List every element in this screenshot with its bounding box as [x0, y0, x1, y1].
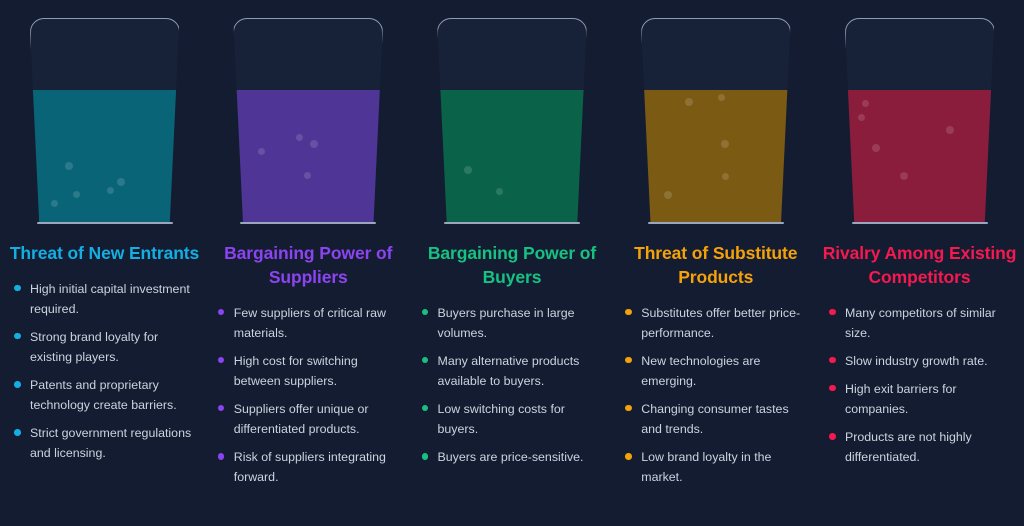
bubble-icon — [721, 140, 729, 148]
bubble-icon — [73, 191, 80, 198]
bubble-icon — [310, 140, 318, 148]
force-title-bargaining-power-of-suppliers: Bargaining Power of Suppliers — [210, 242, 407, 290]
liquid-fill — [234, 90, 382, 222]
bubble-icon — [65, 162, 73, 170]
force-title-threat-of-new-entrants: Threat of New Entrants — [6, 242, 203, 266]
list-item-label: Low switching costs for buyers. — [438, 402, 565, 436]
bubble-icon — [304, 172, 311, 179]
list-item: Many alternative products available to b… — [420, 351, 607, 391]
list-item-label: High cost for switching between supplier… — [234, 354, 358, 388]
list-item: Products are not highly differentiated. — [827, 427, 1014, 467]
list-item-label: High exit barriers for companies. — [845, 382, 957, 416]
list-item-label: Few suppliers of critical raw materials. — [234, 306, 386, 340]
glass-container — [30, 18, 180, 223]
glass-base-line — [240, 222, 376, 224]
force-points-bargaining-power-of-buyers: Buyers purchase in large volumes.Many al… — [414, 303, 611, 476]
list-item: Low switching costs for buyers. — [420, 399, 607, 439]
bullet-dot-icon — [625, 453, 632, 460]
list-item-label: Patents and proprietary technology creat… — [30, 378, 177, 412]
bubble-icon — [496, 188, 503, 195]
bubble-icon — [718, 94, 725, 101]
force-column-threat-of-substitute-products: Threat of Substitute ProductsSubstitutes… — [617, 0, 814, 526]
list-item: Changing consumer tastes and trends. — [623, 399, 810, 439]
bubble-icon — [464, 166, 472, 174]
force-points-threat-of-substitute-products: Substitutes offer better price-performan… — [617, 303, 814, 496]
list-item-label: Slow industry growth rate. — [845, 354, 988, 368]
glass-base-line — [852, 222, 988, 224]
list-item: High exit barriers for companies. — [827, 379, 1014, 419]
list-item: Buyers are price-sensitive. — [420, 447, 607, 467]
list-item-label: Risk of suppliers integrating forward. — [234, 450, 386, 484]
bullet-dot-icon — [625, 357, 632, 364]
list-item: Strong brand loyalty for existing player… — [12, 327, 199, 367]
list-item: Suppliers offer unique or differentiated… — [216, 399, 403, 439]
list-item-label: Low brand loyalty in the market. — [641, 450, 771, 484]
force-column-bargaining-power-of-buyers: Bargaining Power of BuyersBuyers purchas… — [414, 0, 611, 526]
bullet-dot-icon — [829, 309, 836, 316]
glass-base-line — [37, 222, 173, 224]
bullet-dot-icon — [625, 405, 632, 412]
list-item-label: Strong brand loyalty for existing player… — [30, 330, 158, 364]
force-column-bargaining-power-of-suppliers: Bargaining Power of SuppliersFew supplie… — [210, 0, 407, 526]
force-title-rivalry-among-existing-competitors: Rivalry Among Existing Competitors — [821, 242, 1018, 290]
list-item: Many competitors of similar size. — [827, 303, 1014, 343]
list-item: New technologies are emerging. — [623, 351, 810, 391]
list-item: Strict government regulations and licens… — [12, 423, 199, 463]
bubble-icon — [117, 178, 125, 186]
glass-container — [845, 18, 995, 223]
list-item-label: Suppliers offer unique or differentiated… — [234, 402, 369, 436]
list-item: High initial capital investment required… — [12, 279, 199, 319]
list-item: Substitutes offer better price-performan… — [623, 303, 810, 343]
bullet-dot-icon — [422, 309, 429, 316]
bubble-icon — [664, 191, 672, 199]
force-points-rivalry-among-existing-competitors: Many competitors of similar size.Slow in… — [821, 303, 1018, 476]
bubble-icon — [685, 98, 693, 106]
force-gauge-threat-of-new-entrants — [30, 18, 180, 223]
bubble-icon — [51, 200, 58, 207]
liquid-fill — [438, 90, 586, 222]
list-item-label: Buyers are price-sensitive. — [438, 450, 584, 464]
force-title-threat-of-substitute-products: Threat of Substitute Products — [617, 242, 814, 290]
list-item-label: Many competitors of similar size. — [845, 306, 996, 340]
bubble-icon — [946, 126, 954, 134]
bullet-dot-icon — [14, 333, 21, 340]
bullet-dot-icon — [829, 385, 836, 392]
list-item: Patents and proprietary technology creat… — [12, 375, 199, 415]
list-item: Slow industry growth rate. — [827, 351, 1014, 371]
glass-base-line — [444, 222, 580, 224]
bullet-dot-icon — [422, 357, 429, 364]
bullet-dot-icon — [14, 429, 21, 436]
glass-container — [641, 18, 791, 223]
glass-base-line — [648, 222, 784, 224]
force-gauge-threat-of-substitute-products — [641, 18, 791, 223]
bullet-dot-icon — [218, 357, 225, 364]
force-points-bargaining-power-of-suppliers: Few suppliers of critical raw materials.… — [210, 303, 407, 496]
force-title-bargaining-power-of-buyers: Bargaining Power of Buyers — [414, 242, 611, 290]
bubble-icon — [107, 187, 114, 194]
bubble-icon — [900, 172, 908, 180]
bubble-icon — [862, 100, 869, 107]
bullet-dot-icon — [218, 453, 225, 460]
list-item-label: Strict government regulations and licens… — [30, 426, 191, 460]
bubble-icon — [872, 144, 880, 152]
list-item: Low brand loyalty in the market. — [623, 447, 810, 487]
force-column-rivalry-among-existing-competitors: Rivalry Among Existing CompetitorsMany c… — [821, 0, 1018, 526]
bullet-dot-icon — [829, 433, 836, 440]
list-item-label: Changing consumer tastes and trends. — [641, 402, 788, 436]
force-gauge-rivalry-among-existing-competitors — [845, 18, 995, 223]
force-column-threat-of-new-entrants: Threat of New EntrantsHigh initial capit… — [6, 0, 203, 526]
force-points-threat-of-new-entrants: High initial capital investment required… — [6, 279, 203, 472]
list-item-label: Many alternative products available to b… — [438, 354, 580, 388]
bullet-dot-icon — [625, 309, 632, 316]
glass-container — [233, 18, 383, 223]
list-item-label: Substitutes offer better price-performan… — [641, 306, 800, 340]
bullet-dot-icon — [829, 357, 836, 364]
liquid-fill — [31, 90, 179, 222]
bubble-icon — [858, 114, 865, 121]
bullet-dot-icon — [14, 381, 21, 388]
bullet-dot-icon — [218, 405, 225, 412]
list-item-label: Products are not highly differentiated. — [845, 430, 972, 464]
bullet-dot-icon — [422, 453, 429, 460]
bullet-dot-icon — [218, 309, 225, 316]
list-item-label: New technologies are emerging. — [641, 354, 760, 388]
list-item: Few suppliers of critical raw materials. — [216, 303, 403, 343]
glass-container — [437, 18, 587, 223]
list-item: Risk of suppliers integrating forward. — [216, 447, 403, 487]
list-item: Buyers purchase in large volumes. — [420, 303, 607, 343]
force-gauge-bargaining-power-of-buyers — [437, 18, 587, 223]
force-gauge-bargaining-power-of-suppliers — [233, 18, 383, 223]
list-item-label: Buyers purchase in large volumes. — [438, 306, 575, 340]
bubble-icon — [296, 134, 303, 141]
list-item-label: High initial capital investment required… — [30, 282, 190, 316]
bubble-icon — [722, 173, 729, 180]
bubble-icon — [258, 148, 265, 155]
liquid-fill — [642, 90, 790, 222]
list-item: High cost for switching between supplier… — [216, 351, 403, 391]
five-forces-board: Threat of New EntrantsHigh initial capit… — [0, 0, 1024, 526]
bullet-dot-icon — [422, 405, 429, 412]
bullet-dot-icon — [14, 285, 21, 292]
liquid-fill — [846, 90, 994, 222]
